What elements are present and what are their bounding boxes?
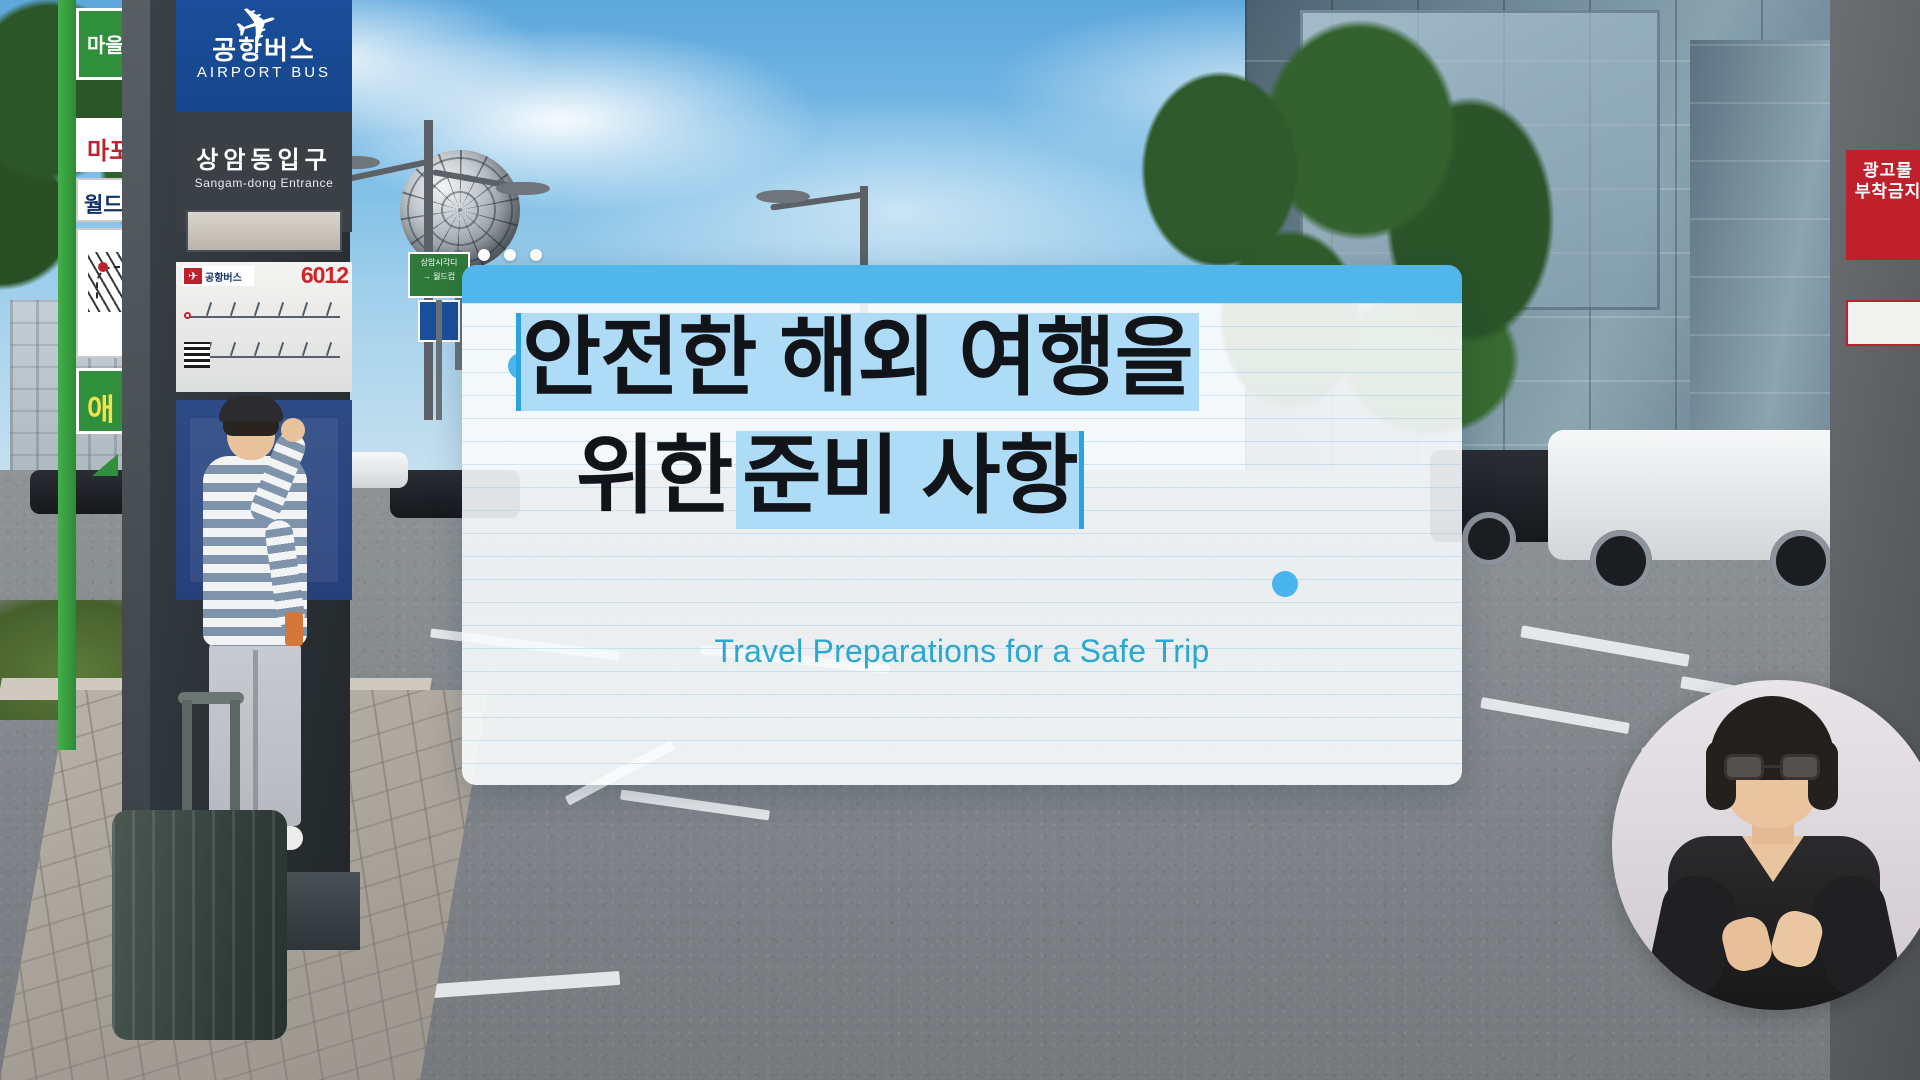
airport-bus-label-en: AIRPORT BUS bbox=[176, 64, 352, 81]
bus-arrow-icon bbox=[92, 454, 118, 476]
title-line-1: 안전한 해외 여행을 bbox=[462, 303, 1462, 421]
title-card-wrapper: 안전한 해외 여행을 위한 준비 사항 Travel Preparations … bbox=[462, 265, 1462, 785]
suitcase-handle-rod bbox=[182, 700, 192, 815]
title-line-2-plain: 위한 bbox=[572, 431, 736, 529]
route-terminus-dot bbox=[98, 262, 108, 272]
sign-language-interpreter-inset bbox=[1612, 680, 1920, 1010]
route-tick bbox=[254, 302, 260, 316]
window-dot-1 bbox=[478, 249, 490, 261]
no-posting-line-1: 광고물 bbox=[1846, 160, 1920, 181]
route-badge-label: 공항버스 bbox=[205, 269, 242, 284]
card-header-bar bbox=[462, 265, 1462, 303]
window-dots bbox=[478, 249, 542, 261]
airport-bus-label-kr: 공항버스 bbox=[176, 30, 352, 67]
no-posting-sign: 광고물 부착금지 bbox=[1846, 150, 1920, 260]
street-lamp-head-3 bbox=[756, 190, 810, 203]
card-subtitle: Travel Preparations for a Safe Trip bbox=[462, 633, 1462, 670]
route-badge: ✈ 공항버스 bbox=[182, 266, 254, 286]
title-line-2: 위한 준비 사항 bbox=[462, 421, 1462, 539]
accent-dot-bottom-right bbox=[1272, 571, 1298, 597]
car-wheel bbox=[1462, 512, 1516, 566]
route-tick bbox=[326, 302, 332, 316]
route-line-bottom bbox=[190, 356, 340, 358]
route-tick bbox=[278, 342, 284, 356]
traveler-leg-split bbox=[253, 650, 258, 820]
stop-name-label-en: Sangam-dong Entrance bbox=[176, 176, 352, 190]
glasses-lens-right bbox=[1780, 754, 1820, 780]
glasses-lens-left bbox=[1724, 754, 1764, 780]
green-sign-post bbox=[58, 0, 76, 750]
route-tick bbox=[278, 302, 284, 316]
qr-code-icon bbox=[184, 342, 210, 368]
road-direction-sign: 상암시각디→ 월드컵 bbox=[408, 252, 470, 298]
route-tick bbox=[254, 342, 260, 356]
car-wheel bbox=[1590, 530, 1652, 592]
route-tick bbox=[230, 302, 236, 316]
interpreter-glasses-icon bbox=[1724, 754, 1820, 780]
airplane-badge-icon: ✈ bbox=[184, 268, 202, 284]
route-tick bbox=[302, 302, 308, 316]
window-dot-3 bbox=[530, 249, 542, 261]
traveler-hand bbox=[281, 418, 305, 442]
traveler-phone bbox=[285, 612, 303, 646]
route-tick bbox=[230, 342, 236, 356]
suitcase-handle-rod bbox=[230, 700, 240, 815]
traveler-cap bbox=[219, 396, 283, 422]
car-wheel bbox=[1770, 530, 1832, 592]
pillar-small-sign bbox=[1846, 300, 1920, 346]
suitcase bbox=[112, 810, 287, 1040]
slide-canvas: 상암시각디→ 월드컵 ‹ 마을버스 마포 월드컵 애 마을버스 ✈ bbox=[0, 0, 1920, 1080]
route-tick bbox=[206, 302, 212, 316]
window-dot-2 bbox=[504, 249, 516, 261]
road-sign-post bbox=[436, 300, 442, 420]
card-content: 안전한 해외 여행을 위한 준비 사항 Travel Preparations … bbox=[462, 303, 1462, 785]
stop-name-label-kr: 상암동입구 bbox=[176, 140, 352, 175]
title-line-2-highlight: 준비 사항 bbox=[736, 431, 1083, 529]
arrival-display-screen bbox=[186, 210, 342, 252]
street-lamp-head-2 bbox=[496, 182, 550, 195]
route-stop-dot bbox=[184, 312, 191, 319]
route-line-diagram bbox=[182, 300, 346, 380]
no-posting-line-2: 부착금지 bbox=[1846, 181, 1920, 202]
route-tick bbox=[326, 342, 332, 356]
traveler-figure bbox=[175, 400, 335, 870]
title-line-1-text: 안전한 해외 여행을 bbox=[516, 313, 1199, 411]
route-tick bbox=[302, 342, 308, 356]
glasses-bridge bbox=[1764, 765, 1780, 768]
route-number: 6012 bbox=[256, 262, 348, 289]
route-line-top bbox=[190, 316, 340, 318]
